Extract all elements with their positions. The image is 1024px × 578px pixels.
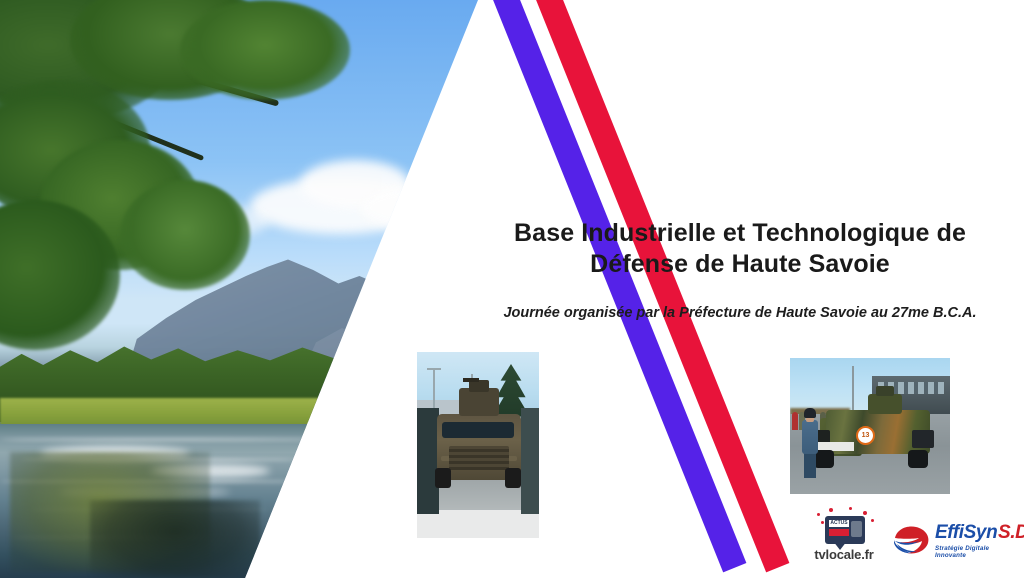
title-line-2: Défense de Haute Savoie <box>590 250 890 278</box>
slide-subtitle: Journée organisée par la Préfecture de H… <box>475 303 1005 324</box>
tree-canopy <box>120 180 250 290</box>
sparkle-dot-icon <box>829 508 833 512</box>
badge-line-2 <box>829 529 849 536</box>
sparkle-dot-icon <box>821 521 824 524</box>
title-line-1: Base Industrielle et Technologique de <box>514 219 966 247</box>
vehicle-number-badge: 13 <box>856 426 875 445</box>
gun-barrel <box>463 378 479 382</box>
tree-canopy <box>180 0 350 100</box>
vehicle-wheel <box>505 468 521 488</box>
effisyn-tagline: Stratégie Digitale Innovante <box>935 545 1021 559</box>
tvlocale-logo-text: tvlocale.fr <box>805 547 883 562</box>
badge-line-1: ACTUS <box>829 520 849 527</box>
armored-vehicle-front-photo <box>417 352 539 538</box>
adjacent-vehicle-right <box>521 408 539 514</box>
turret-optics <box>876 386 894 396</box>
front-grille <box>449 446 509 470</box>
light-pole-arm <box>427 368 441 370</box>
effisyn-suffix-text: S.D.S <box>998 522 1024 544</box>
wave-swoosh-icon <box>893 525 931 555</box>
soldier-legs <box>804 452 816 478</box>
presentation-slide: Base Industrielle et Technologique de Dé… <box>0 0 1024 578</box>
vehicle-wheel <box>435 468 451 488</box>
vehicle-wheel <box>908 450 928 468</box>
lake-mountain-landscape-photo <box>0 0 480 578</box>
vehicle-turret <box>868 394 902 414</box>
page-title: Base Industrielle et Technologique de Dé… <box>480 218 1000 279</box>
sparkle-dot-icon <box>817 513 820 516</box>
sparkle-dot-icon <box>849 507 852 510</box>
rear-bumper <box>912 430 934 448</box>
adjacent-vehicle-left <box>417 408 439 514</box>
tvlocale-logo[interactable]: ACTUS tvlocale.fr <box>805 507 883 567</box>
background-person <box>792 412 798 430</box>
remote-weapon-station <box>459 388 499 416</box>
foreground-white-area <box>417 510 539 538</box>
effisyn-logo[interactable]: EffiSyn S.D.S Stratégie Digitale Innovan… <box>893 521 1021 563</box>
vehicle-windshield <box>442 422 514 438</box>
camouflaged-vehicle-photo: 13 <box>790 358 950 494</box>
sparkle-dot-icon <box>863 511 867 515</box>
soldier-body <box>802 420 818 454</box>
tree-reflection-dark <box>90 500 260 578</box>
soldier-cap <box>804 408 816 418</box>
mast-pole <box>852 366 854 414</box>
effisyn-brand-text: EffiSyn <box>935 522 997 544</box>
badge-side-block <box>851 521 862 537</box>
sparkle-dot-icon <box>871 519 874 522</box>
water-ripple <box>0 438 320 441</box>
